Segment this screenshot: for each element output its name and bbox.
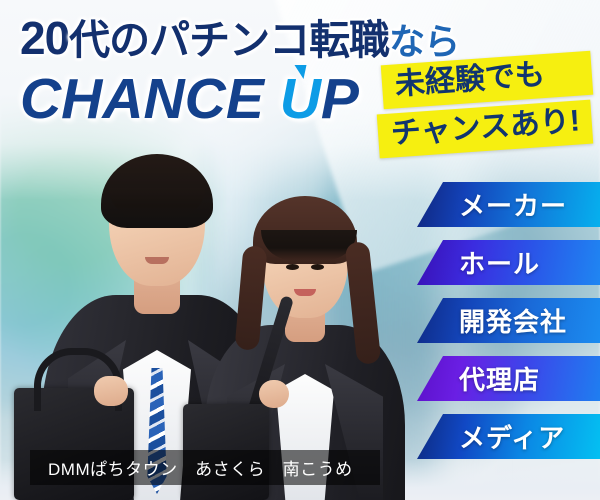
category-bar-hall[interactable]: ホール — [417, 240, 600, 285]
man-hand — [94, 376, 128, 406]
category-bar-agency[interactable]: 代理店 — [417, 356, 600, 401]
category-label-agency: 代理店 — [417, 360, 540, 397]
category-bar-media[interactable]: メディア — [417, 414, 600, 459]
woman-hand — [259, 380, 289, 408]
people-photo — [0, 140, 420, 500]
woman-eye-left — [286, 264, 299, 270]
headline-chance-word: CHANCE — [20, 67, 264, 131]
headline-line-1-suffix: なら — [389, 21, 459, 62]
category-list: メーカー ホール 開発会社 代理店 メディア — [417, 182, 600, 472]
category-bar-maker[interactable]: メーカー — [417, 182, 600, 227]
photo-caption-text: DMMぱちタウン あさくら 南こうめ — [30, 455, 353, 480]
photo-caption: DMMぱちタウン あさくら 南こうめ — [30, 450, 380, 485]
category-label-media: メディア — [417, 418, 565, 455]
callout-line-2: チャンスあり! — [377, 100, 594, 159]
headline-up-u: U — [280, 67, 321, 131]
advertisement-banner[interactable]: 20代のパチンコ転職なら CHANCE UP 未経験でも チャンスあり! DMM… — [0, 0, 600, 500]
category-label-hall: ホール — [417, 244, 540, 281]
woman-mouth — [294, 289, 316, 296]
callout-badge: 未経験でも チャンスあり! — [382, 58, 592, 151]
headline-line-1-main: 代のパチンコ転職 — [69, 17, 389, 63]
category-label-maker: メーカー — [417, 186, 567, 223]
headline-age-number: 20 — [20, 12, 69, 64]
category-bar-development-company[interactable]: 開発会社 — [417, 298, 600, 343]
callout-line-1: 未経験でも — [381, 51, 594, 110]
headline-up-p: P — [321, 67, 359, 131]
woman-hair — [253, 196, 357, 264]
category-label-development-company: 開発会社 — [417, 302, 567, 339]
man-hair — [101, 154, 213, 228]
man-mouth — [145, 257, 169, 264]
woman-eye-right — [311, 264, 324, 270]
